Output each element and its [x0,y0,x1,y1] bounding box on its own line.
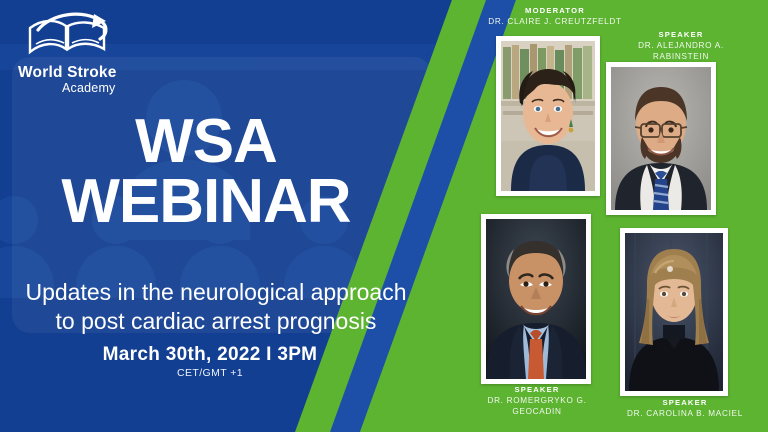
maciel-caption: SPEAKER DR. CAROLINA B. MACIEL [610,398,760,419]
maciel-name: DR. CAROLINA B. MACIEL [610,408,760,419]
rabinstein-name-line-2: RABINSTEIN [606,51,756,62]
moderator-role-label: MODERATOR [466,6,644,16]
event-timezone: CET/GMT +1 [0,367,420,379]
portrait-romergryko-geocadin [486,219,586,379]
maciel-photo-frame [620,228,728,396]
moderator-name: DR. CLAIRE J. CREUTZFELDT [466,16,644,27]
headline-line-1: WSA [0,112,412,172]
maciel-role-label: SPEAKER [610,398,760,408]
geocadin-photo-frame [481,214,591,384]
page-title: WSA WEBINAR [0,112,412,232]
portrait-alejandro-rabinstein [611,67,711,210]
wsa-logo: World Stroke Academy [14,8,184,96]
geocadin-caption: SPEAKER DR. ROMERGRYKO G. GEOCADIN [466,385,608,417]
subtitle-line-1: Updates in the neurological approach [0,278,432,307]
portrait-claire-creutzfeldt [501,41,595,191]
rabinstein-name-line-1: DR. ALEJANDRO A. [606,40,756,51]
moderator-caption: MODERATOR DR. CLAIRE J. CREUTZFELDT [466,6,644,27]
logo-line-1: World Stroke [18,64,117,81]
logo-wordmark: World Stroke Academy [18,64,117,96]
moderator-photo-frame [496,36,600,196]
geocadin-role-label: SPEAKER [466,385,608,395]
portrait-carolina-maciel [625,233,723,391]
headline-line-2: WEBINAR [0,172,412,232]
rabinstein-caption: SPEAKER DR. ALEJANDRO A. RABINSTEIN [606,30,756,62]
rabinstein-role-label: SPEAKER [606,30,756,40]
rabinstein-photo-frame [606,62,716,215]
event-datetime: March 30th, 2022 I 3PM [0,344,420,366]
webinar-promo-banner: World Stroke Academy WSA WEBINAR Updates… [0,0,768,432]
logo-line-2: Academy [62,81,117,96]
subtitle-line-2: to post cardiac arrest prognosis [0,307,432,336]
webinar-subtitle: Updates in the neurological approach to … [0,278,432,336]
geocadin-name: DR. ROMERGRYKO G. GEOCADIN [466,395,608,417]
